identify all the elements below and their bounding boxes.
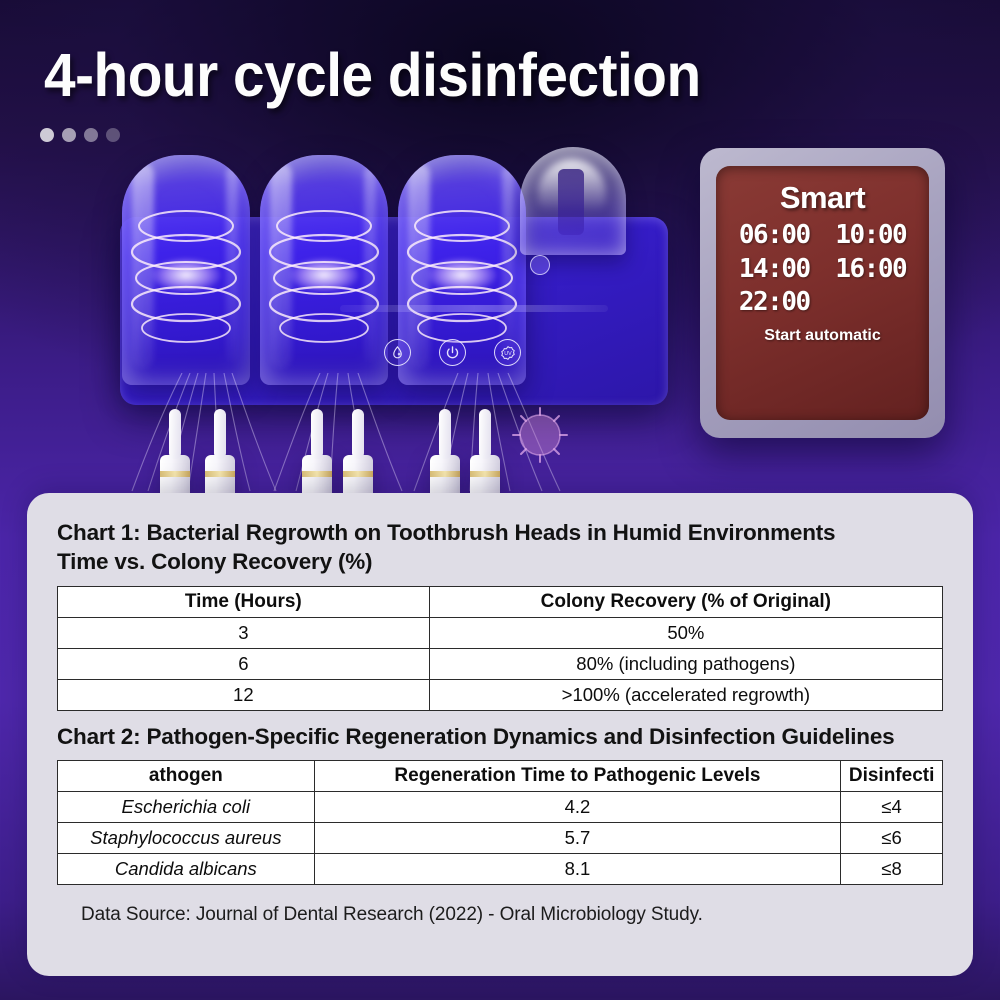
toothbrush-neck [311,409,323,459]
table-row: 12 >100% (accelerated regrowth) [58,679,943,710]
column-header: Disinfecti [841,761,943,792]
status-led [530,255,550,275]
toothbrush-ring [205,471,235,477]
toothbrush-ring [302,471,332,477]
device-seam [340,305,608,312]
sanitize-drop-icon[interactable] [384,339,411,366]
toothbrush-neck [439,409,451,459]
power-icon[interactable] [439,339,466,366]
device-dome [520,147,626,255]
table-row: 6 80% (including pathogens) [58,648,943,679]
progress-dot [84,128,98,142]
progress-dot [40,128,54,142]
cell-recovery: 50% [429,617,942,648]
smart-footer-label: Start automatic [726,327,919,345]
device-control-row: UV [384,339,521,366]
toothbrush-neck [214,409,226,459]
chart1-title-line2: Time vs. Colony Recovery (%) [57,548,943,577]
column-header: Time (Hours) [58,586,430,617]
cell-time: 6 [58,648,430,679]
svg-text:UV: UV [504,351,512,357]
chart2-table: athogen Regeneration Time to Pathogenic … [57,760,943,885]
column-header: athogen [58,761,315,792]
chart1-title-line1: Chart 1: Bacterial Regrowth on Toothbrus… [57,519,943,548]
cell-disinfection: ≤4 [841,792,943,823]
table-row: Candida albicans 8.1 ≤8 [58,854,943,885]
sterilizer-device: UV [112,155,672,405]
smart-screen: Smart 06:00 10:00 14:00 16:00 22:00 Star… [716,166,929,420]
schedule-time: 10:00 [823,219,920,252]
charts-card: Chart 1: Bacterial Regrowth on Toothbrus… [27,493,973,976]
cell-regen-time: 4.2 [314,792,841,823]
spacer [57,711,943,723]
uv-icon[interactable]: UV [494,339,521,366]
schedule-time: 14:00 [726,253,823,286]
schedule-time: 22:00 [726,286,823,319]
table-row: Escherichia coli 4.2 ≤4 [58,792,943,823]
cell-pathogen: Candida albicans [58,854,315,885]
cell-pathogen: Staphylococcus aureus [58,823,315,854]
toothbrush-ring [430,471,460,477]
toothbrush-neck [479,409,491,459]
table-header-row: athogen Regeneration Time to Pathogenic … [58,761,943,792]
progress-dot [62,128,76,142]
cell-regen-time: 5.7 [314,823,841,854]
schedule-time: 16:00 [823,253,920,286]
dome-nozzle [558,169,584,235]
cell-disinfection: ≤6 [841,823,943,854]
progress-dots [40,128,120,142]
sterilizer-chamber [122,155,250,385]
schedule-time: 06:00 [726,219,823,252]
toothbrush-ring [470,471,500,477]
chart2-title: Chart 2: Pathogen-Specific Regeneration … [57,723,943,752]
table-row: 3 50% [58,617,943,648]
uv-glow [427,258,497,292]
page-title: 4-hour cycle disinfection [44,40,701,110]
toothbrush-ring [160,471,190,477]
column-header: Colony Recovery (% of Original) [429,586,942,617]
virus-particle-icon [505,400,575,470]
cell-pathogen: Escherichia coli [58,792,315,823]
cell-time: 12 [58,679,430,710]
uv-glow [151,258,221,292]
toothbrush-neck [169,409,181,459]
uv-glow [289,258,359,292]
table-header-row: Time (Hours) Colony Recovery (% of Origi… [58,586,943,617]
poster-canvas: 4-hour cycle disinfection [0,0,1000,1000]
data-source-note: Data Source: Journal of Dental Research … [57,904,943,926]
cell-recovery: 80% (including pathogens) [429,648,942,679]
cell-disinfection: ≤8 [841,854,943,885]
chart1-table: Time (Hours) Colony Recovery (% of Origi… [57,586,943,711]
table-row: Staphylococcus aureus 5.7 ≤6 [58,823,943,854]
cell-time: 3 [58,617,430,648]
smart-display-panel[interactable]: Smart 06:00 10:00 14:00 16:00 22:00 Star… [700,148,945,438]
progress-dot [106,128,120,142]
schedule-times: 06:00 10:00 14:00 16:00 22:00 [726,219,919,319]
column-header: Regeneration Time to Pathogenic Levels [314,761,841,792]
cell-regen-time: 8.1 [314,854,841,885]
sterilizer-chamber [260,155,388,385]
chart1-title: Chart 1: Bacterial Regrowth on Toothbrus… [57,519,943,577]
smart-title: Smart [726,182,919,213]
toothbrush-neck [352,409,364,459]
cell-recovery: >100% (accelerated regrowth) [429,679,942,710]
toothbrush-ring [343,471,373,477]
